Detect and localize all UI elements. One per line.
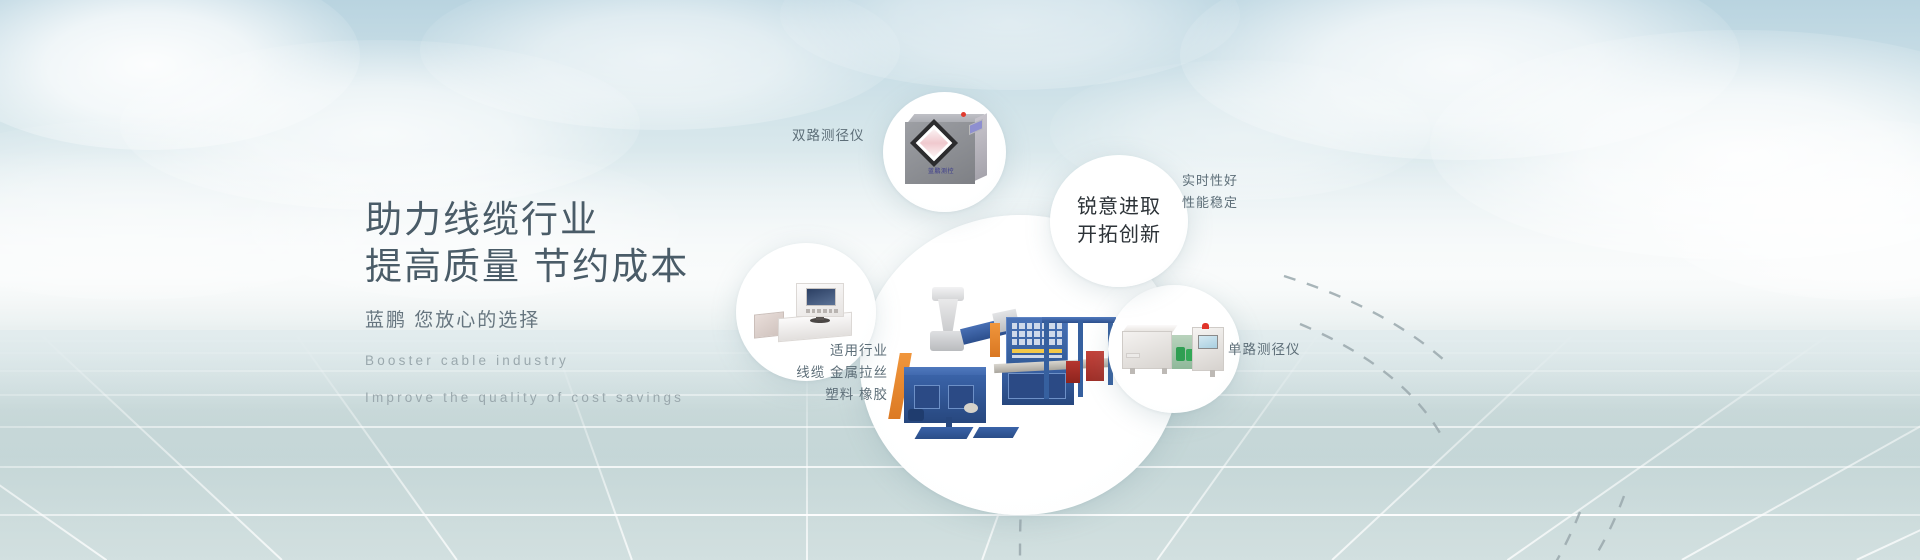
red-unit (1066, 361, 1080, 383)
machine-window (914, 385, 940, 409)
hopper-top (932, 287, 964, 301)
slogan-text: 锐意进取 开拓创新 (1077, 193, 1161, 249)
dual-gauge-illustration: 蓝鹏测控 (899, 108, 991, 196)
console-buttons (806, 309, 838, 313)
machine-small-part (908, 409, 924, 421)
cooling-tank (1008, 373, 1066, 399)
gauge-display (1198, 335, 1218, 349)
floor-mat (915, 427, 974, 439)
headline-line-2: 提高质量 节约成本 (365, 243, 689, 290)
product-cluster: 蓝鹏测控 (720, 60, 1920, 530)
console-screen (806, 288, 836, 306)
cloud-decoration (120, 40, 640, 210)
gauge-foot (1130, 368, 1135, 374)
machine-small-part (964, 403, 978, 413)
headline-line-1: 助力线缆行业 (365, 196, 689, 243)
gauge-foot (1210, 370, 1215, 377)
cloud-decoration (0, 0, 360, 150)
label-industries: 适用行业 线缆 金属拉丝 塑料 橡胶 (728, 340, 888, 406)
industry-title: 适用行业 (728, 340, 888, 362)
english-tagline-1: Booster cable industry (365, 348, 689, 373)
red-unit (1086, 351, 1104, 381)
control-panel-strip (1012, 349, 1062, 353)
industry-line-2: 塑料 橡胶 (728, 384, 888, 406)
floor-mat (973, 427, 1019, 438)
gauge-nameplate (1126, 353, 1140, 358)
label-performance: 实时性好 性能稳定 (1182, 170, 1238, 214)
slogan-line-2: 开拓创新 (1077, 221, 1161, 249)
gauge-indicator-light (1202, 323, 1209, 329)
gauge-indicator-light (961, 112, 966, 117)
single-gauge-illustration (1122, 321, 1226, 379)
frame-leg (1078, 321, 1083, 397)
bubble-single-gauge (1108, 285, 1240, 413)
bubble-dual-gauge: 蓝鹏测控 (883, 92, 1006, 212)
control-panel-buttons (1012, 323, 1062, 345)
control-console-illustration (754, 281, 860, 347)
hopper (938, 299, 958, 333)
performance-line-2: 性能稳定 (1182, 192, 1238, 214)
gauge-right-housing (1192, 327, 1224, 371)
english-tagline-2: Improve the quality of cost savings (365, 385, 689, 410)
frame-leg (1044, 321, 1049, 399)
performance-line-1: 实时性好 (1182, 170, 1238, 192)
bubble-slogan: 锐意进取 开拓创新 (1050, 155, 1188, 287)
gauge-brand-text: 蓝鹏测控 (913, 166, 969, 175)
label-dual-gauge: 双路测径仪 (792, 126, 865, 146)
gauge-optics-emitter (1176, 347, 1185, 361)
gauge-left-housing (1122, 331, 1172, 369)
cloud-decoration (0, 120, 380, 300)
label-single-gauge: 单路测径仪 (1228, 340, 1301, 360)
hero-banner: 助力线缆行业 提高质量 节约成本 蓝鹏 您放心的选择 Booster cable… (0, 0, 1920, 560)
slogan-line-1: 锐意进取 (1077, 193, 1161, 221)
motor-housing (930, 331, 964, 351)
subheadline: 蓝鹏 您放心的选择 (365, 306, 689, 336)
control-panel-strip (1012, 355, 1062, 358)
industry-line-1: 线缆 金属拉丝 (728, 362, 888, 384)
banner-copy: 助力线缆行业 提高质量 节约成本 蓝鹏 您放心的选择 Booster cable… (365, 196, 689, 410)
machine-orange-panel (990, 323, 1000, 357)
gauge-foot (1162, 368, 1167, 374)
